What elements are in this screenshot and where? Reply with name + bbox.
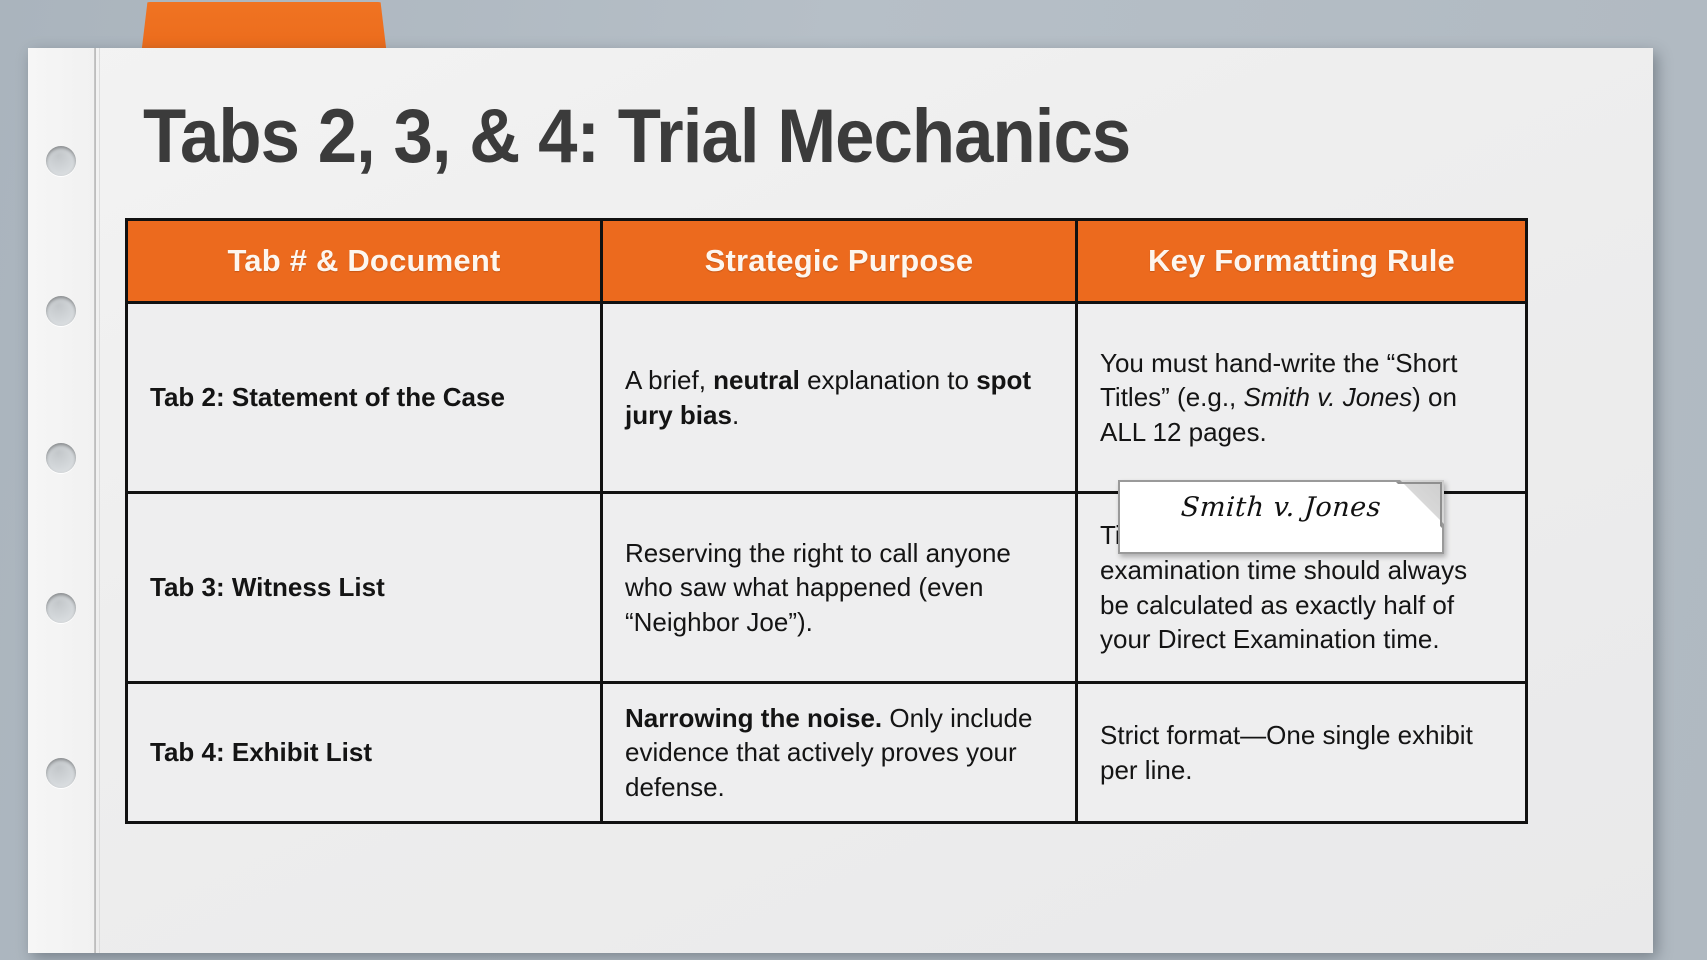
binder-hole-5 (46, 758, 76, 788)
margin-rule-highlight (99, 48, 100, 953)
cell-tab-name: Tab 4: Exhibit List (127, 683, 602, 823)
table-row: Tab 4: Exhibit List Narrowing the noise.… (127, 683, 1527, 823)
page-title: Tabs 2, 3, & 4: Trial Mechanics (143, 93, 1130, 180)
cell-strategic-purpose: A brief, neutral explanation to spot jur… (602, 303, 1077, 493)
column-header-tab-document: Tab # & Document (127, 220, 602, 303)
note-card-text: Smith v. Jones (1119, 492, 1443, 523)
binder-hole-3 (46, 443, 76, 473)
column-header-strategic-purpose: Strategic Purpose (602, 220, 1077, 303)
slide-canvas: Tabs 2, 3, & 4: Trial Mechanics Tab # & … (0, 0, 1707, 960)
cell-strategic-purpose: Reserving the right to call anyone who s… (602, 493, 1077, 683)
cell-key-formatting-rule: You must hand-write the “Short Titles” (… (1077, 303, 1527, 493)
table-body: Tab 2: Statement of the Case A brief, ne… (127, 303, 1527, 823)
binder-page: Tabs 2, 3, & 4: Trial Mechanics Tab # & … (28, 48, 1653, 953)
margin-rule-line (94, 48, 96, 953)
hole-punch-strip (28, 48, 94, 953)
table-row: Tab 2: Statement of the Case A brief, ne… (127, 303, 1527, 493)
handwritten-note-card: Smith v. Jones (1118, 480, 1444, 554)
binder-hole-4 (46, 593, 76, 623)
cell-tab-name: Tab 2: Statement of the Case (127, 303, 602, 493)
cell-key-formatting-rule: Strict format—One single exhibit per lin… (1077, 683, 1527, 823)
table-header-row: Tab # & Document Strategic Purpose Key F… (127, 220, 1527, 303)
cell-strategic-purpose: Narrowing the noise. Only include eviden… (602, 683, 1077, 823)
cell-tab-name: Tab 3: Witness List (127, 493, 602, 683)
binder-hole-2 (46, 296, 76, 326)
binder-hole-1 (46, 146, 76, 176)
column-header-key-formatting-rule: Key Formatting Rule (1077, 220, 1527, 303)
